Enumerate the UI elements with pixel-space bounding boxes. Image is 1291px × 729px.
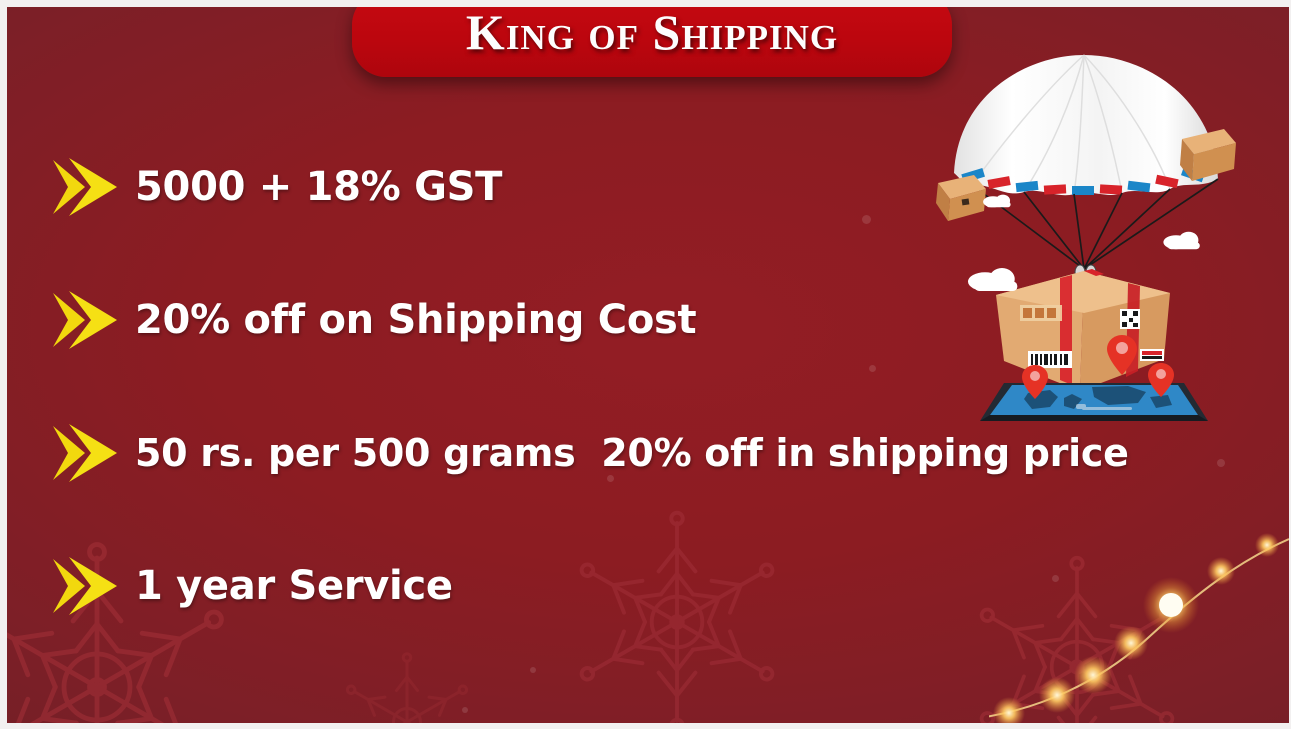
fairy-lights-icon bbox=[989, 513, 1289, 723]
double-chevron-icon bbox=[51, 422, 117, 484]
list-item-label: 5000 + 18% GST bbox=[135, 164, 502, 210]
list-item-label: 20% off on Shipping Cost bbox=[135, 297, 696, 343]
list-item-label: 1 year Service bbox=[135, 563, 453, 609]
bokeh-dot bbox=[530, 667, 536, 673]
list-item: 50 rs. per 500 grams 20% off in shipping… bbox=[51, 421, 1231, 485]
title-badge: King of Shipping bbox=[352, 0, 952, 77]
cardboard-box-icon bbox=[936, 175, 986, 221]
snowflake-icon bbox=[332, 647, 482, 729]
double-chevron-icon bbox=[51, 289, 117, 351]
bokeh-dot bbox=[462, 707, 468, 713]
double-chevron-icon bbox=[51, 555, 117, 617]
double-chevron-icon bbox=[51, 156, 117, 218]
cardboard-box-icon bbox=[996, 269, 1170, 391]
page-title: King of Shipping bbox=[466, 3, 838, 65]
shipping-illustration bbox=[932, 53, 1262, 428]
list-item-label: 50 rs. per 500 grams 20% off in shipping… bbox=[135, 431, 1129, 475]
promo-banner: King of Shipping 5000 + 18% GST 20% off … bbox=[0, 0, 1291, 729]
